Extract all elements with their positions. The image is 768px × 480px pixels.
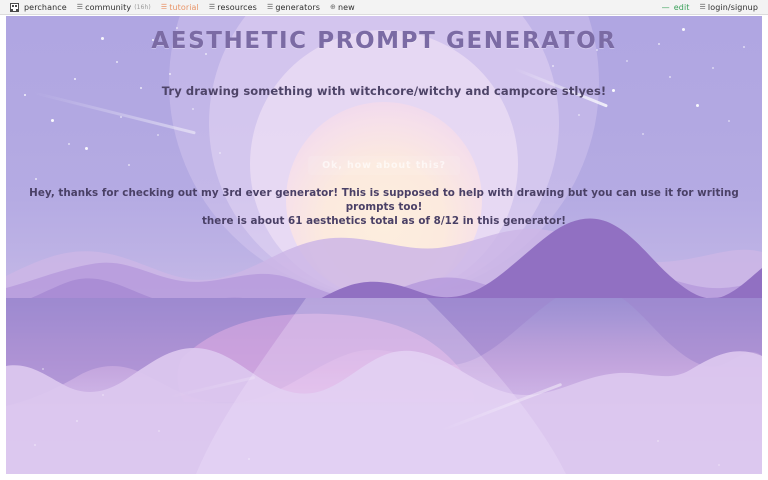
nav-label-tutorial: tutorial [169,0,199,15]
star [85,147,88,150]
list-icon: ☰ [209,4,215,11]
pencil-icon: — [662,0,670,15]
star [116,61,118,63]
nav-right-group: — edit ☰ login/signup [657,0,763,15]
nav-community-count: (16h) [134,0,151,15]
nav-label-new: new [338,0,355,15]
star [35,178,37,180]
reflection-light-cone [6,298,762,474]
menu-icon: ☰ [77,4,83,11]
star [728,120,730,122]
star [552,65,554,67]
nav-item-generators[interactable]: ☰ generators [262,0,325,15]
water-sparkle [76,420,78,422]
generated-prompt-text: Try drawing something with witchcore/wit… [6,84,762,98]
nav-label-generators: generators [275,0,320,15]
star [128,164,130,166]
nav-label-login-signup: login/signup [708,0,758,15]
star [219,152,221,154]
nav-label-resources: resources [217,0,257,15]
star [51,119,54,122]
star [157,134,159,136]
description-line-1: Hey, thanks for checking out my 3rd ever… [6,186,762,214]
top-navigation-bar: perchance ☰ community (16h) ☰ tutorial ☰… [0,0,768,15]
nav-left-group: perchance ☰ community (16h) ☰ tutorial ☰… [5,0,360,15]
star [712,67,714,69]
description-line-2: there is about 61 aesthetics total as of… [6,214,762,228]
star [642,133,644,135]
star [669,76,671,78]
nav-item-community[interactable]: ☰ community (16h) [72,0,156,15]
user-icon: ☰ [700,4,706,11]
star [192,108,194,110]
nav-label-community: community [85,0,131,15]
star [169,73,171,75]
nav-item-perchance[interactable]: perchance [5,0,72,15]
perchance-logo-icon [10,3,19,12]
star [626,60,628,62]
nav-item-login-signup[interactable]: ☰ login/signup [695,0,763,15]
nav-item-resources[interactable]: ☰ resources [204,0,262,15]
water-sparkle [718,464,720,466]
star [696,104,699,107]
nav-label-perchance: perchance [24,0,67,15]
water-sparkle [657,440,659,442]
water-sparkle [42,368,44,370]
nav-item-tutorial[interactable]: ☰ tutorial [156,0,204,15]
generator-canvas: AESTHETIC PROMPT GENERATOR Try drawing s… [6,16,762,474]
plus-circle-icon: ⊕ [330,4,336,11]
grid-icon: ☰ [267,4,273,11]
water-sparkle [158,430,160,432]
nav-item-edit[interactable]: — edit [657,0,695,15]
water-sparkle [248,458,250,460]
water-reflection [6,298,762,474]
star [68,143,70,145]
description-blurb: Hey, thanks for checking out my 3rd ever… [6,186,762,228]
generate-button[interactable]: Ok, how about this? [308,156,460,175]
book-icon: ☰ [161,4,167,11]
nav-item-new[interactable]: ⊕ new [325,0,360,15]
star [578,114,580,116]
page-title: AESTHETIC PROMPT GENERATOR [6,28,762,54]
nav-label-edit: edit [674,0,690,15]
water-sparkle [102,394,104,396]
star [74,78,76,80]
water-sparkle [34,444,36,446]
